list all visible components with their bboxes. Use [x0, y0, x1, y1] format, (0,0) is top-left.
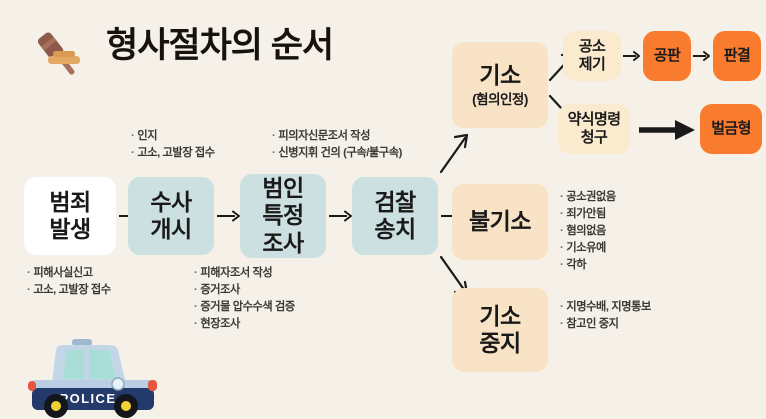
notes-crime: 피해사실신고 고소, 고발장 접수 — [27, 265, 111, 299]
note-item: 신병지휘 건의 (구속/불구속) — [272, 145, 402, 162]
diagram-canvas: 형사절차의 순서 범죄 발생 수사 개시 범인 특정 조사 검찰 송치 — [0, 0, 766, 419]
note-item: 각하 — [560, 257, 616, 274]
flow-node-suspect-identification-line-1: 범인 — [262, 175, 303, 202]
flow-node-suspect-identification-line-3: 조사 — [262, 230, 303, 257]
note-item: 공소권없음 — [560, 189, 616, 206]
flow-node-prosecution-transfer-line-1: 검찰 — [374, 189, 415, 216]
notes-suspension: 지명수배, 지명통보 참고인 중지 — [560, 299, 651, 333]
branch-node-prosecution-label: 기소 — [479, 62, 520, 89]
flow-node-prosecution-transfer-line-2: 송치 — [374, 216, 415, 243]
outcome-node-fine[interactable]: 벌금형 — [700, 104, 762, 154]
gavel-icon — [38, 22, 92, 68]
outcome-node-fine-label: 벌금형 — [711, 120, 751, 138]
note-item: 피해자조서 작성 — [194, 265, 295, 282]
branch-node-suspension-line-1: 기소 — [479, 303, 520, 330]
notes-prosecution-transfer: 피의자신문조서 작성 신병지휘 건의 (구속/불구속) — [272, 128, 402, 162]
note-item: 참고인 중지 — [560, 316, 651, 333]
note-item: 피해사실신고 — [27, 265, 111, 282]
flow-node-suspect-identification[interactable]: 범인 특정 조사 — [240, 174, 326, 258]
note-item: 기소유예 — [560, 240, 616, 257]
note-item: 혐의없음 — [560, 223, 616, 240]
outcome-node-summary-order-line-1: 약식명령 — [568, 111, 621, 129]
flow-node-investigation-start-line-2: 개시 — [150, 216, 191, 243]
arrow-transfer-to-prosecution — [438, 130, 472, 176]
note-item: 지명수배, 지명통보 — [560, 299, 651, 316]
note-item: 죄가안됨 — [560, 206, 616, 223]
flow-node-crime-line-1: 범죄 — [49, 189, 90, 216]
note-item: 현장조사 — [194, 316, 295, 333]
outcome-node-verdict-label: 판결 — [724, 47, 750, 65]
outcome-node-verdict[interactable]: 판결 — [713, 31, 761, 81]
note-item: 고소, 고발장 접수 — [27, 282, 111, 299]
branch-node-non-prosecution[interactable]: 불기소 — [452, 184, 548, 260]
arrow-identify-to-transfer — [328, 209, 354, 223]
flow-node-crime[interactable]: 범죄 발생 — [24, 177, 116, 255]
notes-investigation-start: 인지 고소, 고발장 접수 — [131, 128, 215, 162]
arrow-trial-to-verdict — [692, 50, 712, 62]
branch-node-prosecution[interactable]: 기소 (혐의인정) — [452, 42, 548, 128]
branch-node-suspension[interactable]: 기소 중지 — [452, 288, 548, 372]
outcome-node-summary-order[interactable]: 약식명령 청구 — [558, 104, 630, 154]
outcome-node-trial[interactable]: 공판 — [643, 31, 691, 81]
note-item: 증거조사 — [194, 282, 295, 299]
flow-node-suspect-identification-line-2: 특정 — [262, 202, 303, 229]
title-row: 형사절차의 순서 — [38, 22, 333, 68]
branch-node-prosecution-sublabel: (혐의인정) — [472, 92, 528, 108]
note-item: 피의자신문조서 작성 — [272, 128, 402, 145]
flow-node-investigation-start-line-1: 수사 — [150, 189, 191, 216]
outcome-node-indictment[interactable]: 공소 제기 — [563, 31, 621, 81]
notes-suspect-identification: 피해자조서 작성 증거조사 증거물 압수수색 검증 현장조사 — [194, 265, 295, 333]
arrow-summary-order-to-fine — [637, 118, 699, 142]
notes-non-prosecution: 공소권없음 죄가안됨 혐의없음 기소유예 각하 — [560, 189, 616, 274]
outcome-node-summary-order-line-2: 청구 — [581, 129, 607, 147]
outcome-node-indictment-line-1: 공소 — [579, 38, 605, 56]
note-item: 인지 — [131, 128, 215, 145]
police-car-illustration: POLICE — [22, 336, 170, 418]
branch-node-suspension-line-2: 중지 — [479, 330, 520, 357]
page-title: 형사절차의 순서 — [106, 28, 333, 63]
police-car-label: POLICE — [60, 391, 117, 406]
flow-node-investigation-start[interactable]: 수사 개시 — [128, 177, 214, 255]
flow-node-crime-line-2: 발생 — [49, 216, 90, 243]
note-item: 증거물 압수수색 검증 — [194, 299, 295, 316]
arrow-indictment-to-trial — [622, 50, 642, 62]
flow-node-prosecution-transfer[interactable]: 검찰 송치 — [352, 177, 438, 255]
outcome-node-trial-label: 공판 — [654, 47, 680, 65]
note-item: 고소, 고발장 접수 — [131, 145, 215, 162]
outcome-node-indictment-line-2: 제기 — [579, 56, 605, 74]
arrow-investigate-to-identify — [216, 209, 242, 223]
branch-node-non-prosecution-label: 불기소 — [469, 208, 531, 235]
